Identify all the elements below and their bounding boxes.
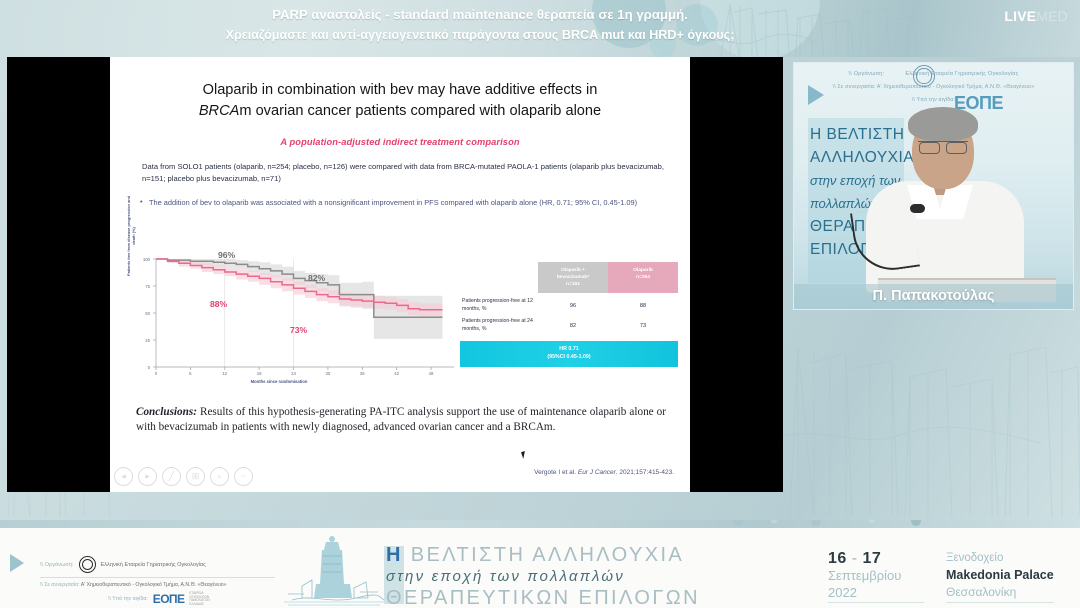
chart-x-tick: 12 <box>218 371 232 376</box>
slide-title-line2: m ovarian cancer patients compared with … <box>239 103 601 119</box>
chart-annotation-96: 96% <box>218 250 235 260</box>
footer-date-days: 16 - 17 <box>828 550 924 567</box>
footer-dots-decor <box>720 520 950 532</box>
screen-root: PARP αναστολείς - standard maintenance θ… <box>0 0 1080 608</box>
col-h2-line1: Olaparib <box>633 268 653 273</box>
play-icon[interactable]: ▸ <box>138 467 157 486</box>
chart-x-tick: 24 <box>287 371 301 376</box>
table-row: Patients progression-free at 12 months, … <box>460 298 678 313</box>
pen-icon[interactable]: ╱ <box>162 467 181 486</box>
minus-icon[interactable]: − <box>234 467 253 486</box>
table-row: Patients progression-free at 24 months, … <box>460 318 678 333</box>
conclusions-text: Results of this hypothesis-generating PA… <box>136 406 666 433</box>
chart-x-tick: 42 <box>390 371 404 376</box>
top-header-banner: PARP αναστολείς - standard maintenance θ… <box>0 0 1080 57</box>
footer-event-venue: Ξενοδοχείο Makedonia Palace Θεσσαλονίκη <box>946 550 1054 603</box>
row-value-12mo-combo: 96 <box>538 303 608 309</box>
results-col-header-olaparib-bev: Olaparib + bevacizumab* n=151 <box>538 262 608 293</box>
col-h1-line2: bevacizumab* <box>557 275 590 280</box>
row-label-24mo: Patients progression-free at 24 months, … <box>460 318 538 333</box>
chart-annotation-82: 82% <box>308 273 325 283</box>
slide-subtitle: A population-adjusted indirect treatment… <box>110 137 690 147</box>
footer-event-date: 16 - 17 Σεπτεμβρίου 2022 <box>828 550 924 603</box>
speaker-hair <box>908 107 978 141</box>
chart-x-tick: 36 <box>355 371 369 376</box>
date-separator: - <box>847 550 863 567</box>
footer-coop-line: \\ Σε συνεργασία: Α' Χημειοθεραπευτικό -… <box>40 582 310 588</box>
video-play-icon[interactable] <box>808 85 824 105</box>
col-h2-line2: n=254 <box>636 275 650 280</box>
footer-title-line3: ΘΕΡΑΠΕΥΤΙΚΩΝ ΕΠΙΛΟΓΩΝ <box>386 587 700 608</box>
footer-org-label: \\ Οργάνωση: <box>40 562 74 568</box>
header-title: PARP αναστολείς - standard maintenance θ… <box>0 5 960 45</box>
slide-bullet-item: The addition of bev to olaparib was asso… <box>140 197 666 209</box>
slide-video-frame[interactable]: Olaparib in combination with bev may hav… <box>7 57 783 492</box>
results-table-header-row: Olaparib + bevacizumab* n=151 Olaparib n… <box>538 262 678 293</box>
background-sketch-decor <box>780 277 1080 520</box>
slide-citation: Vergote I et al. Eur J Cancer. 2021;157:… <box>534 469 674 476</box>
speaker-name-caption: Π. Παπακοτούλας <box>794 284 1073 309</box>
slide-player-toolbar[interactable]: ◂▸╱⊞⌕− <box>110 461 310 491</box>
chart-y-tick: 25 <box>136 338 150 343</box>
footer-date-month: Σεπτεμβρίου <box>828 567 924 584</box>
footer-org-line: \\ Οργάνωση: Ελληνική Εταιρεία Γηριατρικ… <box>40 556 310 573</box>
prev-icon[interactable]: ◂ <box>114 467 133 486</box>
chart-x-axis-label: Months since randomisation <box>164 379 394 384</box>
speaker-video-panel[interactable]: \\ Οργάνωση: Ελληνική Εταιρεία Γηριατρικ… <box>793 62 1074 310</box>
citation-details: . 2021;157:415-423. <box>616 469 674 476</box>
col-h1-line3: n=151 <box>566 282 580 287</box>
lock-icon[interactable]: ⊞ <box>186 467 205 486</box>
chart-x-tick: 0 <box>149 371 163 376</box>
results-table: Olaparib + bevacizumab* n=151 Olaparib n… <box>460 262 678 367</box>
hr-value: HR 0.71 <box>559 346 578 352</box>
footer-banner: \\ Οργάνωση: Ελληνική Εταιρεία Γηριατρικ… <box>0 520 1080 608</box>
footer-play-icon[interactable] <box>10 554 24 572</box>
header-title-line2: Χρειαζόμαστε και αντί-αγγειογενετικό παρ… <box>0 25 960 45</box>
white-tower-sketch-icon <box>282 536 386 608</box>
kaplan-meier-chart: Patients free from disease progression a… <box>132 253 462 388</box>
backdrop-auspices-text: \\ Υπό την αιγίδα: <box>794 97 1073 103</box>
presentation-slide: Olaparib in combination with bev may hav… <box>110 57 690 492</box>
chart-y-tick: 75 <box>136 284 150 289</box>
row-value-12mo-mono: 88 <box>608 303 678 309</box>
header-title-line1: PARP αναστολείς - standard maintenance θ… <box>0 5 960 25</box>
row-value-24mo-combo: 82 <box>538 323 608 329</box>
microphone-head-icon <box>910 204 925 213</box>
slide-title-gene: BRCA <box>199 103 240 119</box>
chart-annotation-73: 73% <box>290 325 307 335</box>
video-stage: \\ Οργάνωση: Ελληνική Εταιρεία Γηριατρικ… <box>794 63 1073 309</box>
footer-title-line1-rest: ΒΕΛΤΙΣΤΗ ΑΛΛΗΛΟΥΧΙΑ <box>403 544 684 566</box>
citation-journal: Eur J Cancer <box>578 469 616 476</box>
chart-y-axis-label: Patients free from disease progression a… <box>126 193 136 279</box>
society-seal-icon <box>79 556 96 573</box>
footer-auspices-line: \\ Υπό την αιγίδα: ΕΟΠΕ ΕΤΑΙΡΕΙΑΟΓΚΟΛΟΓΩ… <box>40 592 310 606</box>
eope-logo-subtext: ΕΤΑΙΡΕΙΑΟΓΚΟΛΟΓΩΝΠΑΘΟΛΟΓΩΝΕΛΛΑΔΑΣ <box>189 592 209 606</box>
footer-date-underline <box>828 602 924 603</box>
footer-venue-underline <box>946 602 1054 603</box>
footer-auspices-label: \\ Υπό την αιγίδα: <box>108 596 148 602</box>
backdrop-coop-text: \\ Σε συνεργασία: Α' Χημειοθεραπευτικό -… <box>794 84 1073 90</box>
backdrop-org-label: \\ Οργάνωση: <box>848 71 884 77</box>
chart-annotation-88: 88% <box>210 299 227 309</box>
footer-org-value: Ελληνική Εταιρεία Γηριατρικής Ογκολογίας <box>101 562 206 568</box>
footer-title-line1: Η ΒΕΛΤΙΣΤΗ ΑΛΛΗΛΟΥΧΙΑ <box>386 544 700 567</box>
hazard-ratio-banner: HR 0.71 (95%CI 0.45-1.09) <box>460 341 678 367</box>
results-col-header-olaparib: Olaparib n=254 <box>608 262 678 293</box>
slide-paragraph: Data from SOLO1 patients (olaparib, n=25… <box>142 161 666 184</box>
mouse-cursor <box>521 450 530 459</box>
livemed-logo: LIVEMED <box>1004 8 1068 24</box>
km-plot-svg <box>132 253 462 388</box>
livemed-live-text: LIVE <box>1004 8 1036 24</box>
slide-conclusions: Conclusions: Results of this hypothesis-… <box>136 405 666 436</box>
footer-venue-label: Ξενοδοχείο <box>946 550 1054 567</box>
livemed-med-text: MED <box>1036 8 1068 24</box>
speaker-glasses <box>918 141 968 152</box>
chart-x-tick: 6 <box>183 371 197 376</box>
slide-title: Olaparib in combination with bev may hav… <box>126 80 674 122</box>
chart-y-tick: 100 <box>136 257 150 262</box>
conclusions-label: Conclusions: <box>136 406 197 418</box>
society-seal-icon <box>913 65 935 87</box>
footer-date-year: 2022 <box>828 584 924 601</box>
chart-x-tick: 18 <box>252 371 266 376</box>
search-icon[interactable]: ⌕ <box>210 467 229 486</box>
footer-coop-label: \\ Σε συνεργασία: <box>40 582 80 588</box>
footer-title-line2: στην εποχή των πολλαπλών <box>386 567 700 587</box>
footer-title-initial: Η <box>386 544 403 566</box>
footer-event-title: Η ΒΕΛΤΙΣΤΗ ΑΛΛΗΛΟΥΧΙΑ στην εποχή των πολ… <box>386 544 700 608</box>
date-day-start: 16 <box>828 550 847 567</box>
chart-x-tick: 30 <box>321 371 335 376</box>
chart-y-tick: 0 <box>136 365 150 370</box>
date-day-end: 17 <box>863 550 882 567</box>
chart-x-tick: 48 <box>424 371 438 376</box>
row-value-24mo-mono: 73 <box>608 323 678 329</box>
eope-logo: ΕΟΠΕ <box>153 592 185 606</box>
chart-y-tick: 50 <box>136 311 150 316</box>
col-h1-line1: Olaparib + <box>561 268 585 273</box>
footer-coop-value: Α' Χημειοθεραπευτικό - Ογκολογικό Τμήμα,… <box>81 582 227 588</box>
hr-confidence-interval: (95%CI 0.45-1.09) <box>547 354 590 360</box>
slide-title-line1: Olaparib in combination with bev may hav… <box>203 82 598 98</box>
footer-venue-name: Makedonia Palace <box>946 567 1054 584</box>
citation-authors: Vergote I et al. <box>534 469 578 476</box>
footer-venue-city: Θεσσαλονίκη <box>946 584 1054 601</box>
footer-organisers: \\ Οργάνωση: Ελληνική Εταιρεία Γηριατρικ… <box>40 556 310 606</box>
row-label-12mo: Patients progression-free at 12 months, … <box>460 298 538 313</box>
footer-divider <box>40 577 275 578</box>
